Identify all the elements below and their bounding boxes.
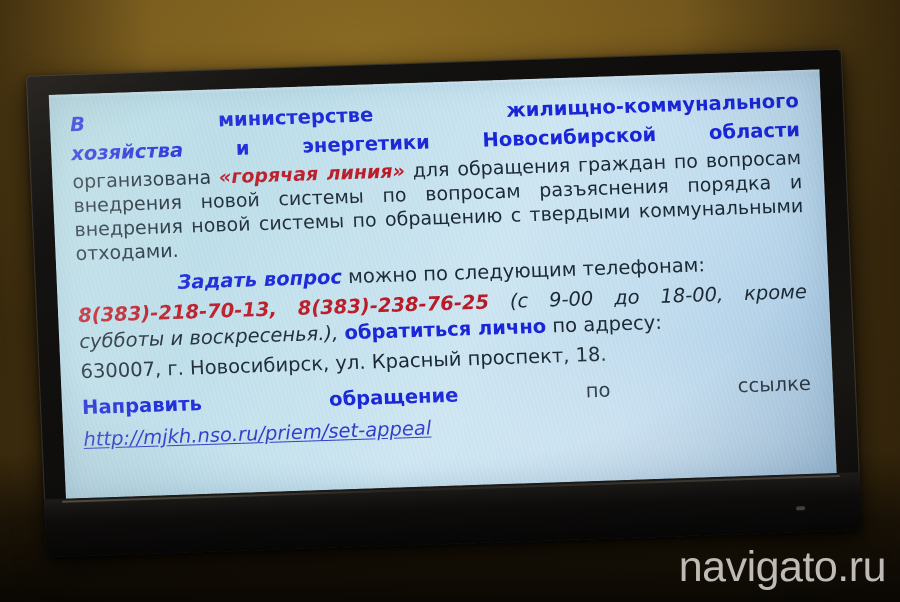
tv-power-led (796, 506, 805, 510)
slide-paragraph-1: В министерстве жилищно-коммунального хоз… (70, 88, 805, 266)
text-by-address: по адресу: (552, 311, 662, 338)
text-organizovana: организована (72, 167, 212, 194)
word-napravit: Направить (82, 392, 203, 419)
hotline-phone-1: 8(383)-218-70-13 (78, 298, 270, 327)
paragraph-1-remainder: для обращения граждан по вопросам внедре… (73, 147, 804, 265)
word-oblasti: области (708, 118, 800, 144)
word-v: В (70, 113, 86, 136)
slide-paragraph-3: Направить обращение по ссылке http://mjk… (82, 370, 813, 454)
presentation-slide: В министерстве жилищно-коммунального хоз… (49, 69, 837, 498)
word-i: и (235, 136, 250, 159)
slide-paragraph-2: Задать вопрос можно по следующим телефон… (76, 249, 809, 385)
phone-separator: , (269, 298, 277, 321)
word-energetiki: энергетики (302, 130, 430, 157)
watermark: navigato.ru (679, 543, 886, 592)
word-zhkh: жилищно-коммунального (506, 89, 799, 122)
phones-intro-text: можно по следующим телефонам: (348, 253, 706, 288)
word-ministerstve: министерстве (218, 103, 374, 131)
word-obrashchenie: обращение (329, 384, 459, 411)
tv-screen: В министерстве жилищно-коммунального хоз… (49, 69, 837, 498)
ask-question-label: Задать вопрос (177, 265, 342, 293)
visit-in-person-label: обратиться лично (344, 315, 547, 345)
appeal-form-link[interactable]: http://mjkh.nso.ru/priem/set-appeal (83, 416, 432, 451)
word-novosibirskoy: Новосибирской (482, 123, 657, 152)
paragraph-1-body: организована «горячая линия» для обращен… (72, 146, 805, 266)
word-po: по (585, 379, 611, 403)
word-ssylke: ссылке (737, 372, 811, 397)
hotline-phone-2: 8(383)-238-76-25 (297, 291, 489, 320)
word-hozyaystva: хозяйства (71, 139, 184, 166)
wall-mounted-television: В министерстве жилищно-коммунального хоз… (26, 49, 862, 558)
